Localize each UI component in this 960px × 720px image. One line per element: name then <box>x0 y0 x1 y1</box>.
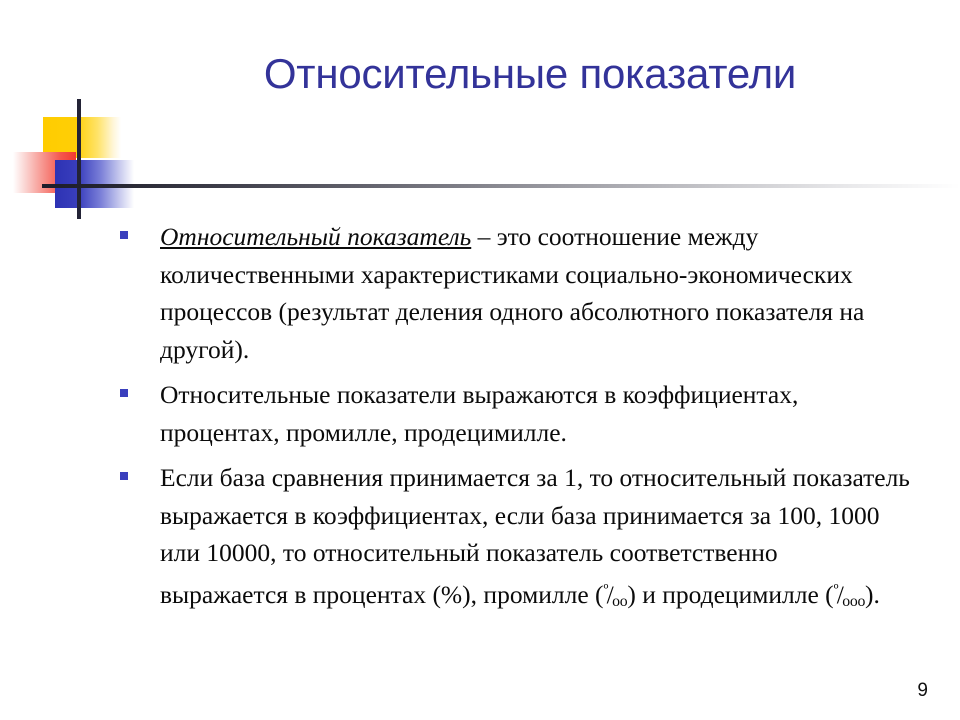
decorative-color-blocks <box>0 90 960 225</box>
list-item: Относительные показатели выражаются в ко… <box>120 376 910 451</box>
bullet-definition-text: Относительный показатель – это соотношен… <box>128 218 910 368</box>
bullet-list: Относительный показатель – это соотношен… <box>120 218 910 628</box>
base-rules-part-2: ) и продецимилле ( <box>627 580 833 609</box>
per-mille-symbol: º/oo <box>604 572 628 621</box>
square-bullet-icon <box>120 389 128 397</box>
per-ten-thousand-denominator: ooo <box>842 593 865 610</box>
slide-page-number: 9 <box>917 680 928 702</box>
square-bullet-icon <box>120 231 128 239</box>
defined-term: Относительный показатель <box>160 222 471 251</box>
list-item: Относительный показатель – это соотношен… <box>120 218 910 368</box>
bullet-base-rules-text: Если база сравнения принимается за 1, то… <box>128 459 910 620</box>
square-bullet-icon <box>120 472 128 480</box>
slide-canvas: Относительные показатели Относительный п… <box>0 0 960 720</box>
vertical-rule <box>77 99 81 219</box>
list-item: Если база сравнения принимается за 1, то… <box>120 459 910 620</box>
horizontal-rule <box>42 184 960 188</box>
base-rules-part-3: ). <box>865 580 880 609</box>
per-ten-thousand-symbol: º/ooo <box>834 572 865 621</box>
per-mille-denominator: oo <box>612 593 627 610</box>
bullet-units-text: Относительные показатели выражаются в ко… <box>128 376 910 451</box>
